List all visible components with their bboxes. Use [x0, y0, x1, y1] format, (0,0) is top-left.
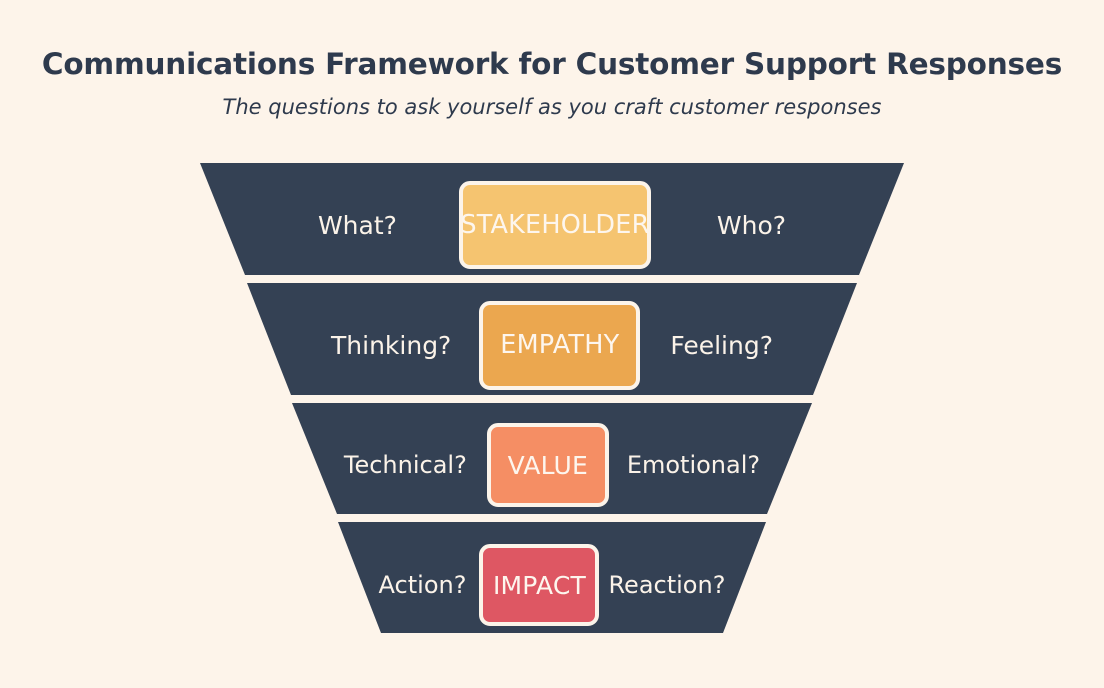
infographic-canvas: Communications Framework for Customer Su…: [0, 0, 1104, 688]
page-subtitle: The questions to ask yourself as you cra…: [0, 95, 1104, 120]
tier-3-right-label: Emotional?: [627, 451, 760, 479]
tier-3-left-label: Technical?: [344, 451, 467, 479]
funnel-tier-1[interactable]: What? STAKEHOLDER Who?: [0, 175, 1104, 275]
tier-1-left-label: What?: [318, 211, 397, 240]
tier-1-right-label: Who?: [717, 211, 786, 240]
tier-2-badge-empathy[interactable]: EMPATHY: [479, 301, 640, 390]
tier-2-left-label: Thinking?: [331, 331, 451, 360]
funnel-tier-2[interactable]: Thinking? EMPATHY Feeling?: [0, 295, 1104, 395]
tier-1-badge-stakeholder[interactable]: STAKEHOLDER: [459, 181, 651, 269]
tier-4-right-label: Reaction?: [608, 571, 725, 599]
tier-4-badge-impact[interactable]: IMPACT: [479, 544, 599, 626]
tier-2-right-label: Feeling?: [670, 331, 773, 360]
tier-4-left-label: Action?: [379, 571, 467, 599]
funnel-diagram: What? STAKEHOLDER Who? Thinking? EMPATHY…: [0, 163, 1104, 643]
tier-3-badge-value[interactable]: VALUE: [487, 423, 609, 507]
header: Communications Framework for Customer Su…: [0, 47, 1104, 121]
page-title: Communications Framework for Customer Su…: [0, 47, 1104, 82]
funnel-tier-4[interactable]: Action? IMPACT Reaction?: [0, 537, 1104, 633]
funnel-tier-3[interactable]: Technical? VALUE Emotional?: [0, 416, 1104, 514]
